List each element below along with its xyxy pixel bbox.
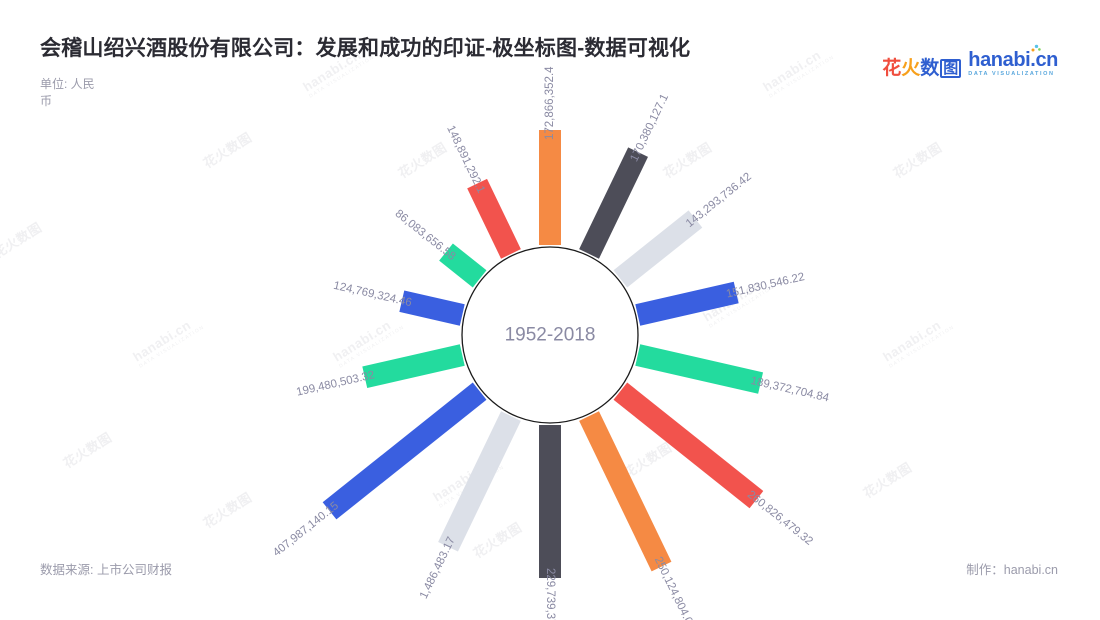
brand-tagline: DATA VISUALIZATION <box>968 72 1058 78</box>
brand-char-4: 图 <box>940 59 961 78</box>
radial-bar[interactable] <box>635 344 763 393</box>
brand-logo-en: hanabi.cn DATA VISUALIZATION <box>968 50 1058 78</box>
brand-wordmark-text: hanabi.cn <box>968 49 1058 71</box>
radial-bar[interactable] <box>539 130 561 245</box>
bar-value-label: 148,891,292.1 <box>444 124 487 195</box>
bar-value-label: 407,987,140.15 <box>271 500 341 559</box>
bar-value-label: 250,124,804.06 <box>652 555 697 620</box>
radial-bar[interactable] <box>635 282 738 326</box>
bar-value-label: 229,739,377.5 <box>544 568 556 620</box>
data-source-label: 数据来源: 上市公司财报 <box>40 559 172 578</box>
bar-value-label: 143,293,736.42 <box>684 171 754 230</box>
chart-page: 花火数图花火数图hanabi.cnDATA VISUALIZATION花火数图h… <box>0 0 1100 620</box>
brand-logo-cn: 花火数图 <box>882 59 961 78</box>
bar-value-label: 199,480,503.32 <box>295 369 376 398</box>
bar-value-label: 1,486,483.17 <box>418 535 458 601</box>
bar-value-label: 86,083,656.58 <box>393 208 458 263</box>
radial-bar[interactable] <box>539 425 561 578</box>
brand-char-3: 数 <box>920 59 939 78</box>
credit-label: 制作：hanabi.cn <box>966 559 1058 578</box>
page-title: 会稽山绍兴酒股份有限公司：发展和成功的印证-极坐标图-数据可视化 <box>40 32 690 62</box>
brand-char-1: 花 <box>882 59 901 78</box>
bar-value-label: 124,769,324.46 <box>332 280 413 309</box>
chart-unit-label: 单位: 人民币 <box>40 76 100 111</box>
bar-value-label: 260,826,479.32 <box>745 489 815 548</box>
header: 会稽山绍兴酒股份有限公司：发展和成功的印证-极坐标图-数据可视化 单位: 人民币 <box>40 32 690 111</box>
brand-char-2: 火 <box>901 59 920 78</box>
radial-bar[interactable] <box>579 411 671 571</box>
bar-value-label: 151,830,546.22 <box>725 271 806 300</box>
sparkle-icon <box>1031 44 1041 53</box>
radial-bar[interactable] <box>438 411 521 551</box>
bar-value-label: 189,372,704.84 <box>750 375 831 405</box>
brand-wordmark: hanabi.cn <box>968 50 1058 70</box>
radial-bar[interactable] <box>362 344 464 388</box>
brand-logo: 花火数图 hanabi.cn DATA VISUALIZATION <box>882 50 1058 78</box>
center-range-label: 1952-2018 <box>505 325 596 346</box>
